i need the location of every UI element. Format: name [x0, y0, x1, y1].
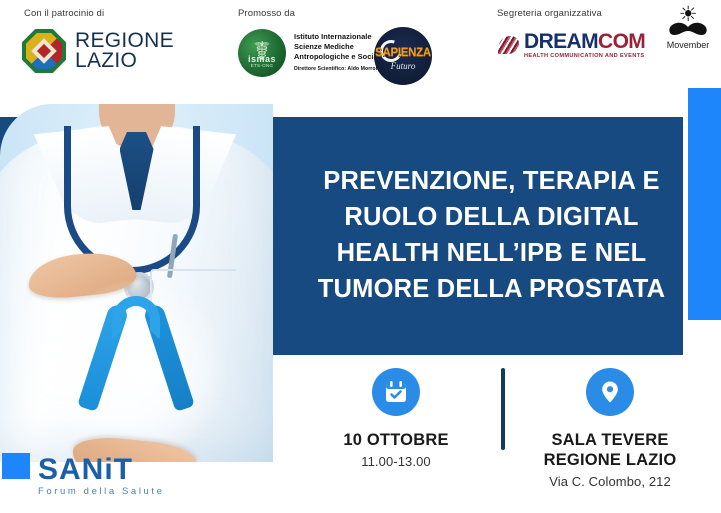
dreamcom-word-part2: COM: [598, 30, 645, 53]
moustache-icon: ☀: [660, 6, 716, 37]
event-date-main: 10 OTTOBRE: [311, 430, 481, 450]
regione-lazio-line2: LAZIO: [75, 51, 174, 71]
title-line-3: HEALTH NELL’IPB E NEL: [300, 235, 683, 271]
ismas-director: Direttore Scientifico: Aldo Morrone: [294, 66, 382, 72]
sanit-logo: SANiT Forum della Salute: [38, 455, 165, 497]
sapienza-futuro-logo: SAPIENZA Futuro: [374, 27, 432, 85]
event-venue-block: SALA TEVERE REGIONE LAZIO Via C. Colombo…: [525, 360, 695, 489]
ismas-line3: Antropologiche e Sociali: [294, 52, 382, 62]
dreamcom-wordmark: DREAMCOM: [524, 31, 645, 52]
regione-lazio-logo: REGIONE LAZIO: [22, 29, 174, 73]
ismas-line2: Scienze Mediche: [294, 42, 382, 52]
ismas-emblem-icon: ☤ ismas ETS-ONG: [238, 29, 286, 77]
title-line-4: TUMORE DELLA PROSTATA: [300, 271, 683, 307]
sapienza-wordmark: SAPIENZA: [374, 47, 432, 59]
event-info-strip: 10 OTTOBRE 11.00-13.00 SALA TEVERE REGIO…: [285, 360, 721, 510]
promoted-by-caption: Promosso da: [238, 8, 382, 19]
event-venue-line1: SALA TEVERE: [525, 430, 695, 450]
promoted-by-block: Promosso da ☤ ismas ETS-ONG Istituto Int…: [238, 8, 382, 77]
doctor-photo: [0, 104, 273, 462]
movember-label: Movember: [660, 40, 716, 50]
title-line-2: RUOLO DELLA DIGITAL: [300, 199, 683, 235]
ismas-mark-sub: ETS-ONG: [238, 63, 286, 68]
blue-awareness-ribbon-icon: [88, 296, 184, 416]
dreamcom-tagline: HEALTH COMMUNICATION AND EVENTS: [524, 54, 645, 60]
regione-lazio-wordmark: REGIONE LAZIO: [75, 31, 174, 71]
patronage-caption: Con il patrocinio di: [24, 8, 174, 19]
secretariat-block: Segreteria organizzativa DREAMCOM HEALTH…: [497, 8, 645, 60]
dreamcom-swirl-icon: [497, 33, 521, 57]
event-venue-address: Via C. Colombo, 212: [525, 474, 695, 489]
ismas-line1: Istituto Internazionale: [294, 32, 382, 42]
poster-header: Con il patrocinio di REGIONE LAZIO Promo…: [0, 0, 721, 96]
secretariat-caption: Segreteria organizzativa: [497, 8, 645, 19]
ismas-logo: ☤ ismas ETS-ONG Istituto Internazionale …: [238, 29, 382, 77]
dreamcom-word-part1: DREAM: [524, 30, 598, 53]
event-date-time: 11.00-13.00: [311, 454, 481, 469]
event-venue-line2: REGIONE LAZIO: [525, 450, 695, 470]
calendar-check-icon: [372, 368, 420, 416]
title-line-1: PREVENZIONE, TERAPIA E: [300, 163, 683, 199]
sanit-square-icon: [2, 453, 30, 479]
info-divider: [501, 368, 505, 450]
ismas-text-block: Istituto Internazionale Scienze Mediche …: [294, 29, 382, 72]
accent-bar: [688, 88, 721, 320]
movember-logo: ☀ Movember: [660, 6, 716, 50]
map-pin-icon: [586, 368, 634, 416]
sapienza-subword: Futuro: [374, 61, 432, 71]
event-date-block: 10 OTTOBRE 11.00-13.00: [311, 360, 481, 469]
stethoscope-icon: [64, 126, 200, 274]
sanit-wordmark: SANiT: [38, 455, 165, 485]
regione-lazio-emblem-icon: [22, 29, 66, 73]
patronage-block: Con il patrocinio di REGIONE LAZIO: [22, 8, 174, 73]
dreamcom-logo: DREAMCOM HEALTH COMMUNICATION AND EVENTS: [497, 31, 645, 60]
event-poster: Con il patrocinio di REGIONE LAZIO Promo…: [0, 0, 721, 513]
event-title: PREVENZIONE, TERAPIA E RUOLO DELLA DIGIT…: [300, 140, 683, 330]
regione-lazio-line1: REGIONE: [75, 31, 174, 51]
sanit-tagline: Forum della Salute: [38, 486, 165, 497]
